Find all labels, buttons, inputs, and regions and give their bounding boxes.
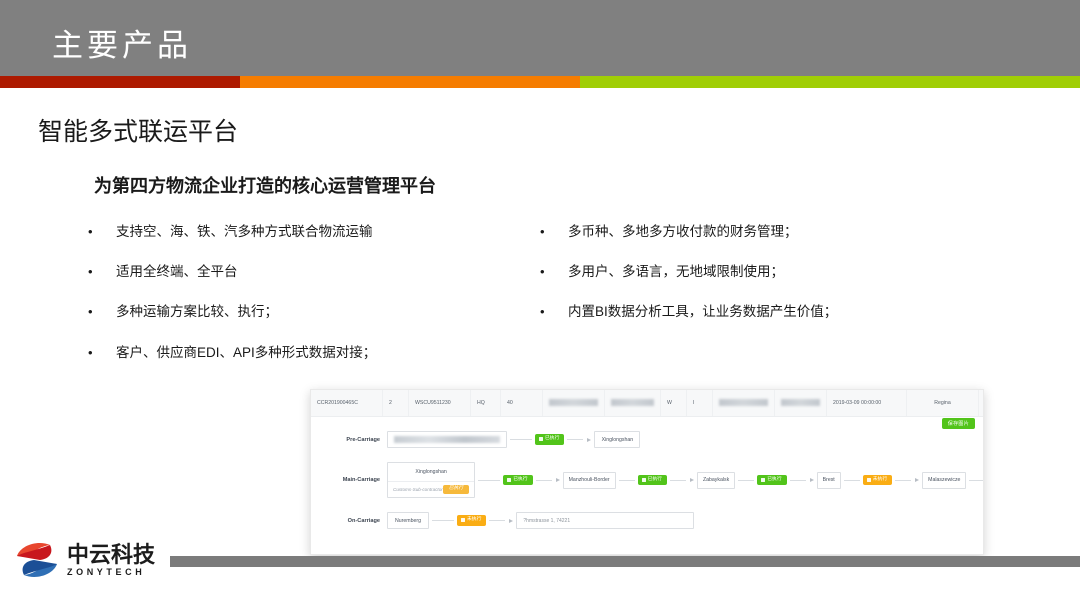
accent-segment-red	[0, 76, 240, 88]
connector-line	[670, 480, 686, 481]
connector-line	[619, 480, 635, 481]
connector-line	[790, 480, 806, 481]
list-item: • 支持空、海、铁、汽多种方式联合物流运输	[88, 224, 528, 240]
status-badge-label: 已执行	[513, 478, 527, 483]
list-item: • 多种运输方案比较、执行；	[88, 304, 528, 320]
bullet-text: 多用户、多语言，无地域限制使用；	[568, 264, 784, 280]
customs-subcontractor-row: Customs-Sub-contractor 已执行	[388, 481, 474, 497]
leg-row-main-carriage: Main-Carriage Xinglongshan Customs-Sub-c…	[321, 462, 973, 498]
order-number-cell: CCR201900465C	[311, 390, 383, 416]
check-icon	[761, 478, 765, 482]
company-logo: 中云科技 ZONYTECH	[14, 540, 155, 580]
bullet-text: 客户、供应商EDI、API多种形式数据对接；	[116, 345, 376, 361]
check-icon	[642, 478, 646, 482]
footer-bar	[170, 556, 1080, 567]
etd-cell: 2019-03-09 00:00:00	[827, 390, 907, 416]
clock-icon	[867, 478, 871, 482]
product-screenshot: CCR201900465C 2 WSCU9511230 HQ 40 W I 20…	[310, 389, 984, 555]
arrow-icon	[587, 438, 591, 442]
bullet-marker-icon: •	[88, 345, 116, 361]
transit-node[interactable]: Manzhouli-Border	[563, 472, 616, 489]
section-title: 智能多式联运平台	[38, 112, 238, 148]
status-badge-label: 已执行	[767, 478, 781, 483]
final-delivery-address-node[interactable]: ?hmstrasse 1, 74221	[516, 512, 694, 529]
arrow-icon	[810, 478, 814, 482]
status-badge[interactable]: 已执行	[535, 434, 564, 445]
connector-line	[478, 480, 500, 481]
container-number-cell: WSCU9511230	[409, 390, 471, 416]
operator-cell: Regina	[907, 390, 979, 416]
section-subtitle: 为第四方物流企业打造的核心运营管理平台	[94, 172, 436, 198]
logo-swoosh-icon	[14, 540, 60, 580]
customs-status-badge[interactable]: 已执行	[443, 485, 469, 494]
connector-line	[567, 439, 583, 440]
bullet-text: 多种运输方案比较、执行；	[116, 304, 278, 320]
destination-node[interactable]: Xinglongshan	[594, 431, 640, 448]
logo-text: 中云科技 ZONYTECH	[67, 544, 155, 577]
transit-node[interactable]: Malaszewicze	[922, 472, 966, 489]
code-i-cell: I	[687, 390, 713, 416]
leg-row-pre-carriage: Pre-Carriage 已执行 Xinglongshan	[321, 431, 973, 448]
arrow-icon	[915, 478, 919, 482]
weight-cell: 40	[501, 390, 543, 416]
bullet-text: 适用全终端、全平台	[116, 264, 238, 280]
code-w-cell: W	[661, 390, 687, 416]
connector-line	[489, 520, 505, 521]
transit-node[interactable]: Brest	[817, 472, 841, 489]
list-item: • 内置BI数据分析工具，让业务数据产生价值；	[540, 304, 1010, 320]
quantity-cell: 2	[383, 390, 409, 416]
masked-field-cell	[543, 390, 605, 416]
accent-bar	[0, 76, 1080, 88]
masked-party-cell	[605, 390, 661, 416]
connector-line	[536, 480, 552, 481]
connector-line	[738, 480, 754, 481]
accent-segment-green	[580, 76, 1080, 88]
clock-icon	[461, 518, 465, 522]
main-origin-label: Xinglongshan	[388, 463, 474, 481]
consignor-cell	[713, 390, 775, 416]
status-badge-label: 已执行	[648, 478, 662, 483]
arrow-icon	[509, 519, 513, 523]
logo-english-name: ZONYTECH	[67, 568, 155, 577]
bullet-marker-icon: •	[88, 264, 116, 280]
bullet-marker-icon: •	[540, 304, 568, 320]
bullet-list-right: • 多币种、多地多方收付款的财务管理； • 多用户、多语言，无地域限制使用； •…	[540, 224, 1010, 345]
connector-line	[510, 439, 532, 440]
transit-node[interactable]: Zabaykalsk	[697, 472, 735, 489]
bullet-text: 多币种、多地多方收付款的财务管理；	[568, 224, 798, 240]
page-title: 主要产品	[52, 20, 192, 65]
on-carriage-origin-node[interactable]: Nuremberg	[387, 512, 429, 529]
status-badge[interactable]: 已执行	[503, 475, 532, 486]
leg-row-on-carriage: On-Carriage Nuremberg 未执行 ?hmstrasse 1, …	[321, 512, 973, 529]
status-badge[interactable]: 已执行	[638, 475, 667, 486]
bullet-marker-icon: •	[88, 304, 116, 320]
bullet-marker-icon: •	[540, 224, 568, 240]
check-icon	[507, 478, 511, 482]
bullet-text: 内置BI数据分析工具，让业务数据产生价值；	[568, 304, 837, 320]
customs-subcontractor-label: Customs-Sub-contractor	[393, 487, 443, 492]
list-item: • 适用全终端、全平台	[88, 264, 528, 280]
carriage-legs: Pre-Carriage 已执行 Xinglongshan Main-Carri…	[311, 417, 983, 551]
status-badge-label: 未执行	[467, 518, 481, 523]
office-cell: HQ	[471, 390, 501, 416]
check-icon	[539, 437, 543, 441]
main-origin-node[interactable]: Xinglongshan Customs-Sub-contractor 已执行	[387, 462, 475, 498]
connector-line	[844, 480, 860, 481]
status-badge[interactable]: 未执行	[457, 515, 486, 526]
connector-line	[895, 480, 911, 481]
shipment-header-row: CCR201900465C 2 WSCU9511230 HQ 40 W I 20…	[311, 390, 983, 417]
accent-segment-orange	[240, 76, 580, 88]
arrow-icon	[690, 478, 694, 482]
bullet-list-left: • 支持空、海、铁、汽多种方式联合物流运输 • 适用全终端、全平台 • 多种运输…	[88, 224, 528, 385]
bullet-text: 支持空、海、铁、汽多种方式联合物流运输	[116, 224, 373, 240]
status-badge[interactable]: 已执行	[757, 475, 786, 486]
list-item: • 多用户、多语言，无地域限制使用；	[540, 264, 1010, 280]
list-item: • 客户、供应商EDI、API多种形式数据对接；	[88, 345, 528, 361]
leg-label: Pre-Carriage	[321, 437, 387, 443]
arrow-icon	[556, 478, 560, 482]
connector-line	[432, 520, 454, 521]
logo-chinese-name: 中云科技	[67, 544, 155, 566]
status-badge-label: 已执行	[545, 437, 559, 442]
bullet-marker-icon: •	[88, 224, 116, 240]
list-item: • 多币种、多地多方收付款的财务管理；	[540, 224, 1010, 240]
status-badge[interactable]: 未执行	[863, 475, 892, 486]
bullet-marker-icon: •	[540, 264, 568, 280]
leg-label: On-Carriage	[321, 518, 387, 524]
created-at-cell: 2019-03-06 08:33:34 详细	[979, 390, 984, 416]
leg-label: Main-Carriage	[321, 477, 387, 483]
final-delivery-address-text: ?hmstrasse 1, 74221	[523, 518, 570, 524]
consignee-cell	[775, 390, 827, 416]
origin-address-node[interactable]	[387, 431, 507, 448]
status-badge-label: 未执行	[873, 478, 887, 483]
connector-line	[969, 480, 984, 481]
